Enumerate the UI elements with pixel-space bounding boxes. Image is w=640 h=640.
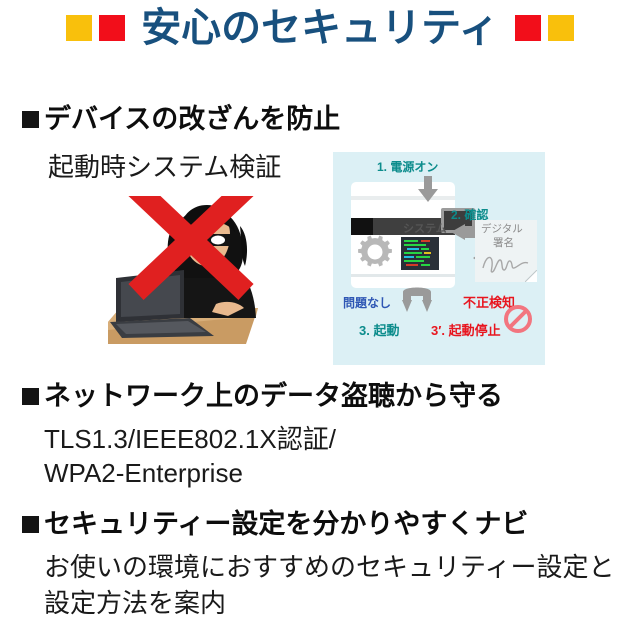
decor-square-red-right — [515, 15, 541, 41]
gear-icon — [357, 234, 393, 270]
diagram-label-boot: 3. 起動 — [359, 324, 399, 337]
diagram-label-system: システム — [403, 224, 447, 235]
section-3-line-2: 設定方法を案内 — [44, 588, 226, 620]
decor-square-yellow-left — [66, 15, 92, 41]
section-2-line-1: TLS1.3/IEEE802.1X認証/ — [44, 424, 336, 456]
prohibition-sign-icon — [503, 304, 533, 334]
device-top-stripe — [351, 196, 455, 200]
section-3-line-1: お使いの環境におすすめのセキュリティー設定と — [44, 552, 614, 584]
section-2-line-2: WPA2-Enterprise — [44, 458, 243, 490]
diagram-label-digital-sign-line1: デジタル — [481, 224, 523, 235]
card-corner-fold-icon — [525, 270, 537, 282]
decor-square-yellow-right — [548, 15, 574, 41]
hacker-at-laptop-illustration — [108, 196, 323, 348]
section-1-heading: デバイスの改ざんを防止 — [22, 104, 340, 135]
diagram-label-power-on: 1. 電源オン — [377, 161, 438, 173]
section-2-heading: ネットワーク上のデータ盗聴から守る — [22, 381, 503, 412]
bullet-square-icon — [22, 111, 39, 128]
code-matrix-icon — [401, 237, 439, 270]
section-3-heading: セキュリティー設定を分かりやすくナビ — [22, 509, 528, 540]
diagram-label-boot-stop: 3′. 起動停止 — [431, 324, 501, 337]
section-1-heading-label: デバイスの改ざんを防止 — [44, 104, 340, 135]
diagram-label-digital-sign-line2: 署名 — [493, 238, 514, 249]
boot-verification-diagram: システム 1. 電源オン 2. 確認 デジタル 署名 — [333, 152, 545, 365]
bullet-square-icon — [22, 388, 39, 405]
slide-root: 安心のセキュリティ デバイスの改ざんを防止 起動時システム検証 — [0, 0, 640, 640]
diagram-label-no-problem: 問題なし — [343, 297, 391, 309]
slide-header: 安心のセキュリティ — [0, 8, 640, 48]
device-bottom-stripe — [351, 274, 455, 277]
device-illustration: システム — [351, 182, 455, 288]
bullet-square-icon — [22, 516, 39, 533]
section-3-heading-label: セキュリティー設定を分かりやすくナビ — [44, 509, 528, 540]
down-arrow-icon — [417, 176, 439, 202]
page-title: 安心のセキュリティ — [125, 8, 515, 48]
section-1-subtitle: 起動時システム検証 — [48, 152, 281, 184]
section-2-heading-label: ネットワーク上のデータ盗聴から守る — [44, 381, 503, 412]
decor-square-red-left — [99, 15, 125, 41]
branch-arrow-icon — [389, 286, 445, 320]
device-dark-bar-accent — [351, 218, 373, 235]
digital-signature-card: デジタル 署名 — [475, 220, 537, 282]
